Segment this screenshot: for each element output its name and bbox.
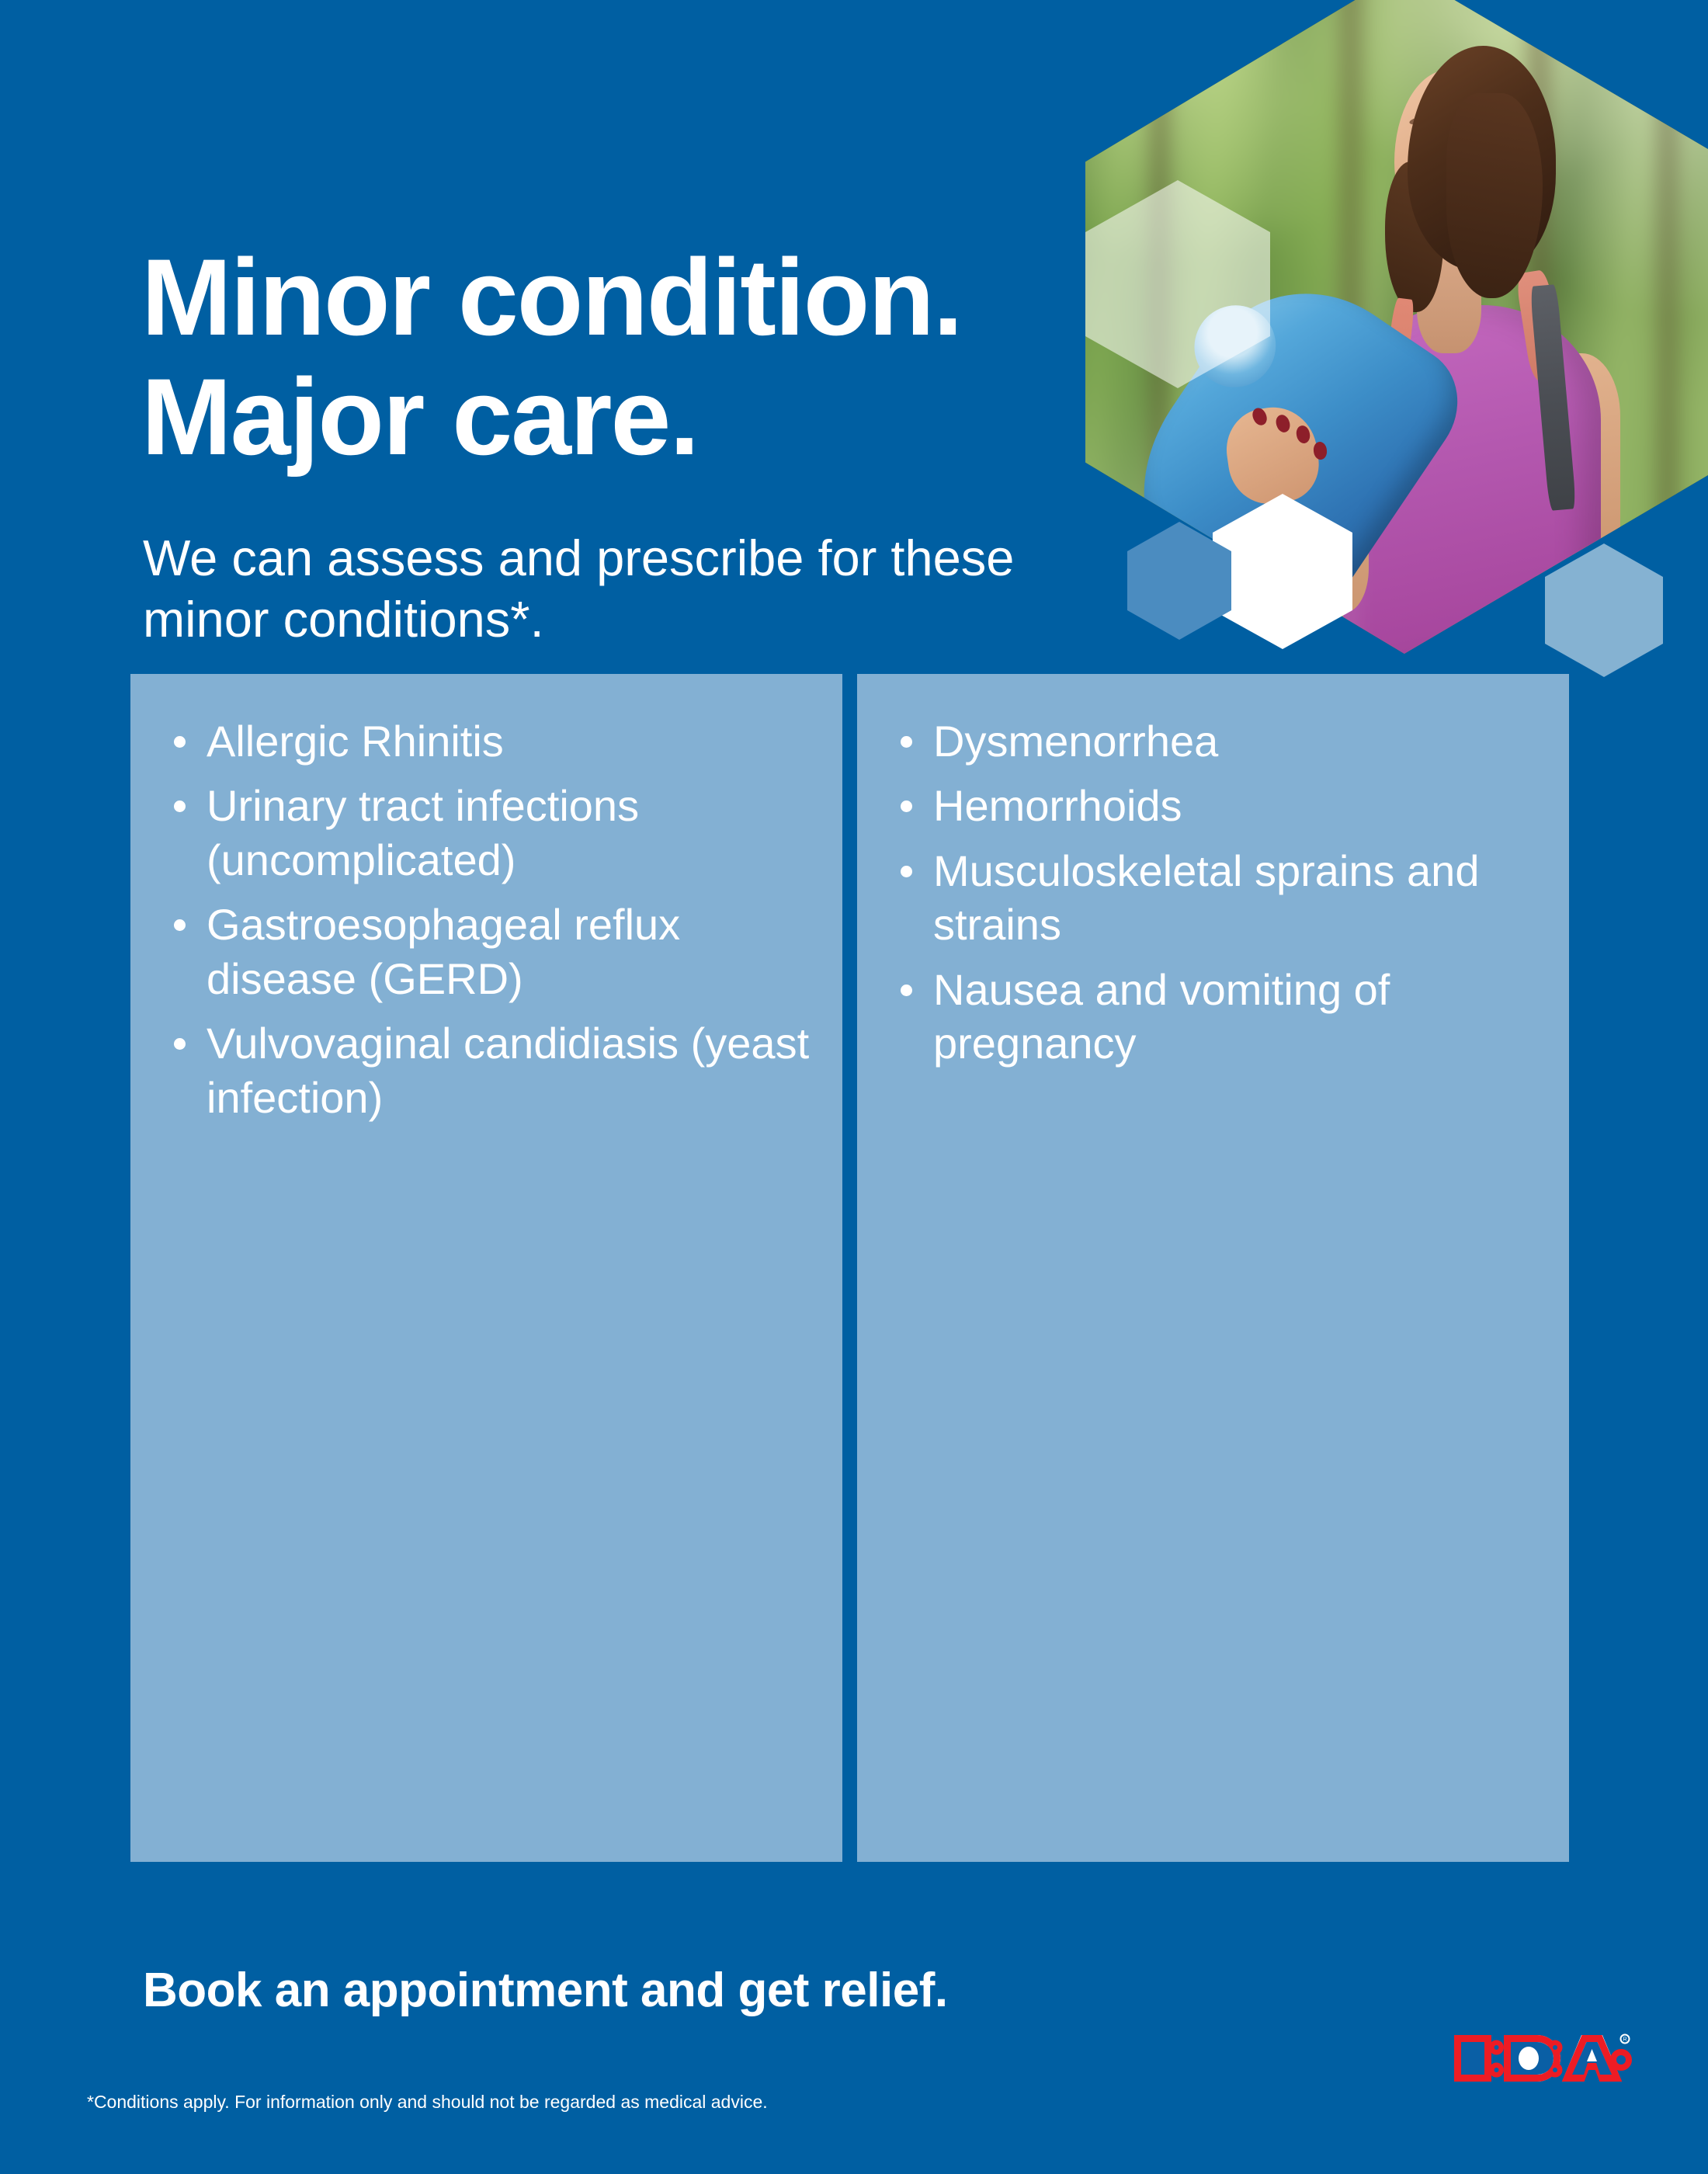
conditions-card-left: Allergic Rhinitis Urinary tract infectio…: [130, 674, 842, 1862]
hair-back: [1446, 93, 1543, 298]
conditions-card-right: Dysmenorrhea Hemorrhoids Musculoskeletal…: [857, 674, 1569, 1862]
ida-logo-icon: R: [1446, 2028, 1632, 2089]
list-item: Nausea and vomiting of pregnancy: [897, 963, 1540, 1071]
list-item: Hemorrhoids: [897, 779, 1540, 832]
list-item: Musculoskeletal sprains and strains: [897, 844, 1540, 952]
conditions-list-left: Allergic Rhinitis Urinary tract infectio…: [171, 714, 813, 1124]
page-title: Minor condition. Major care.: [141, 238, 1057, 477]
headline-line-1: Minor condition.: [141, 238, 1057, 357]
subheadline-line-1: We can assess and prescribe for these: [143, 530, 1014, 586]
call-to-action-text: Book an appointment and get relief.: [143, 1963, 948, 2018]
list-item: Dysmenorrhea: [897, 714, 1540, 768]
disclaimer-text: *Conditions apply. For information only …: [87, 2092, 768, 2113]
list-item: Urinary tract infections (uncomplicated): [171, 779, 813, 887]
svg-text:R: R: [1623, 2037, 1626, 2043]
headline-line-2: Major care.: [141, 357, 1057, 477]
conditions-list-right: Dysmenorrhea Hemorrhoids Musculoskeletal…: [897, 714, 1540, 1071]
poster-canvas: Minor condition. Major care. We can asse…: [0, 0, 1708, 2174]
subheadline-line-2: minor conditions*.: [143, 591, 544, 648]
conditions-panel: Allergic Rhinitis Urinary tract infectio…: [130, 674, 1569, 1862]
list-item: Vulvovaginal candidiasis (yeast infectio…: [171, 1016, 813, 1124]
list-item: Gastroesophageal reflux disease (GERD): [171, 898, 813, 1005]
subheadline: We can assess and prescribe for these mi…: [143, 527, 1043, 651]
list-item: Allergic Rhinitis: [171, 714, 813, 768]
ida-logo: R: [1446, 2028, 1632, 2089]
